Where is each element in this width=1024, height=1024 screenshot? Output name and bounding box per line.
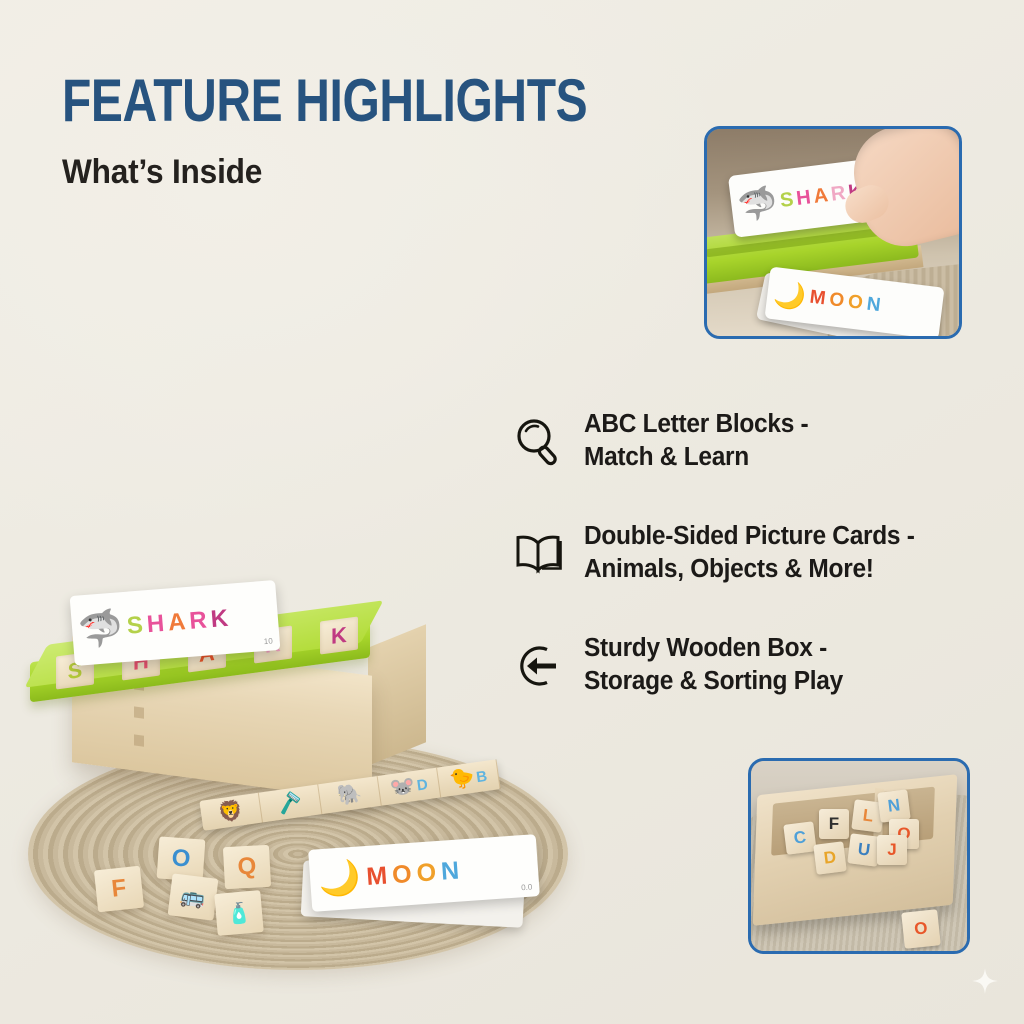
- strip-picture: 🐭: [389, 776, 416, 799]
- shark-illustration: 🦈: [736, 186, 779, 223]
- strip-picture: 🦁: [217, 800, 244, 823]
- card-letter: A: [812, 184, 830, 209]
- feature-label: Sturdy Wooden Box - Storage & Sorting Pl…: [584, 632, 843, 698]
- infographic-canvas: FEATURE HIGHLIGHTS What’s Inside ABC Let…: [0, 0, 1024, 1024]
- shark-card-word: SHARK: [126, 605, 233, 641]
- letter-cube: N: [877, 789, 910, 822]
- magnifier-icon: [512, 414, 566, 470]
- photo-box-with-letter-cubes: CFLNOUDJ O: [748, 758, 970, 954]
- page-title: FEATURE HIGHLIGHTS: [62, 70, 587, 132]
- card-letter: N: [865, 294, 882, 318]
- card-letter: O: [416, 858, 438, 888]
- loose-letter-tile: F: [94, 866, 144, 913]
- letter-cube: D: [813, 841, 846, 874]
- loose-letter-tile: Q: [223, 845, 271, 889]
- card-letter: M: [808, 287, 827, 311]
- feature-list: ABC Letter Blocks - Match & Learn Double…: [512, 408, 982, 744]
- card-letter: O: [847, 291, 865, 315]
- moon-illustration: 🌙: [317, 860, 362, 897]
- sparkle-star-icon: [972, 968, 998, 994]
- moon-card-word: MOON: [808, 287, 885, 318]
- strip-picture: 🐘: [336, 783, 363, 806]
- moon-illustration: 🌙: [772, 280, 807, 310]
- card-letter: H: [795, 186, 813, 211]
- card-corner-mark: 10: [263, 636, 273, 646]
- card-corner-mark: 0.0: [521, 882, 533, 892]
- letter-cube: F: [819, 809, 849, 839]
- card-letter: N: [440, 856, 461, 886]
- photo-main-product-scene: SHARK 🦈 SHARK 10 🦁🪒🐘🐭D🐤B 🌙 MOON 0.0 F O …: [10, 580, 570, 980]
- feature-item-picture-cards: Double-Sided Picture Cards - Animals, Ob…: [512, 520, 982, 594]
- loose-letter-cube: O: [901, 909, 941, 949]
- strip-picture: 🪒: [276, 792, 303, 815]
- card-letter: A: [167, 608, 187, 637]
- strip-letter: D: [416, 776, 429, 794]
- lid-letter-tile: K: [320, 617, 358, 655]
- card-letter: H: [146, 610, 166, 639]
- letter-cube: U: [847, 833, 880, 866]
- card-letter: O: [828, 289, 846, 313]
- card-letter: R: [188, 606, 208, 635]
- feature-item-wooden-box: Sturdy Wooden Box - Storage & Sorting Pl…: [512, 632, 982, 706]
- card-letter: S: [779, 188, 796, 213]
- feature-item-letter-blocks: ABC Letter Blocks - Match & Learn: [512, 408, 982, 482]
- letter-cube: J: [877, 835, 907, 865]
- shark-illustration: 🦈: [77, 609, 125, 648]
- strip-picture: 🐤: [448, 768, 475, 791]
- card-letter: M: [365, 861, 389, 891]
- page-subtitle: What’s Inside: [62, 152, 262, 192]
- loose-picture-tile: 🧴: [214, 890, 263, 936]
- card-letter: O: [391, 859, 413, 889]
- card-letter: S: [126, 611, 145, 640]
- open-book-icon: [512, 526, 566, 582]
- strip-letter: B: [475, 767, 488, 785]
- feature-label: Double-Sided Picture Cards - Animals, Ob…: [584, 520, 915, 586]
- loose-picture-tile: 🚌: [168, 873, 219, 920]
- box-side-panel: [368, 624, 426, 765]
- feature-label: ABC Letter Blocks - Match & Learn: [584, 408, 808, 474]
- moon-card-word: MOON: [365, 856, 465, 892]
- card-letter: K: [210, 605, 230, 634]
- letter-cube: C: [783, 821, 816, 854]
- photo-shark-card-in-hand: 🌙 MOON 🦈 SHARK 10: [704, 126, 962, 339]
